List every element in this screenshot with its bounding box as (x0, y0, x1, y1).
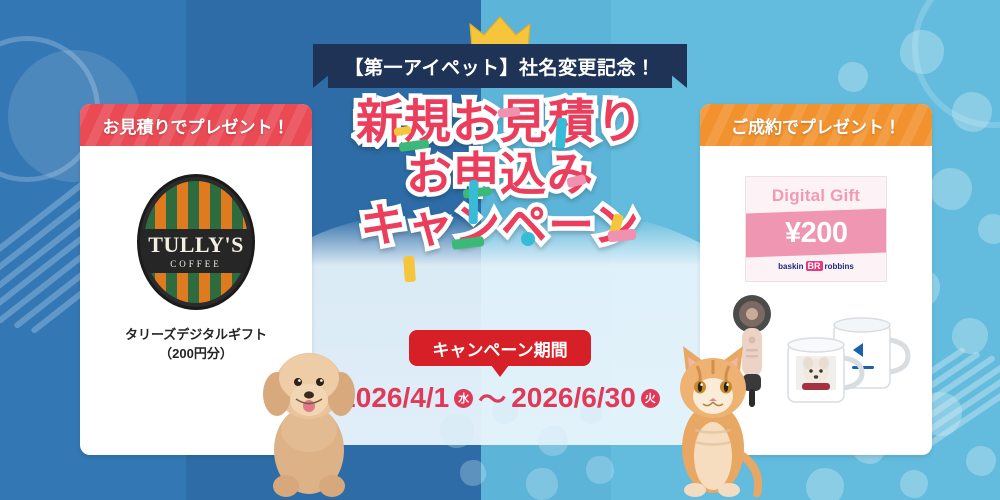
brand-prefix: baskin (778, 262, 803, 271)
tullys-logo-subtext: COFFEE (170, 260, 222, 269)
card-estimate-caption-main: タリーズデジタルギフト (125, 327, 267, 342)
digital-gift-title: Digital Gift (772, 187, 860, 204)
tullys-coffee-logo: TULLY'S COFFEE (137, 174, 255, 310)
toy-poodle-photo (250, 338, 368, 500)
title-line-3: キャンペーン (300, 200, 700, 252)
main-title: 新規お見積り お申込み キャンペーン (300, 96, 700, 252)
brand-suffix: robbins (825, 262, 854, 271)
card-contract-header: ご成約でプレゼント！ (700, 104, 932, 146)
campaign-end-date: 2026/6/30 (511, 382, 636, 414)
orange-tabby-cat-photo (663, 330, 769, 500)
tullys-logo-wordmark: TULLY'S (148, 234, 244, 256)
digital-gift-card: Digital Gift ¥200 baskin BR robbins (745, 176, 887, 282)
card-estimate-body: TULLY'S COFFEE タリーズデジタルギフト （200円分） (80, 146, 312, 364)
campaign-date-separator: ～ (478, 378, 506, 418)
campaign-period-badge-label: キャンペーン期間 (432, 336, 567, 361)
title-line-2: お申込み (300, 149, 700, 201)
brand-mark: BR (806, 261, 823, 271)
baskin-robbins-logo: baskin BR robbins (778, 261, 854, 271)
title-line-1: 新規お見積り (300, 96, 700, 149)
mug-with-logo-icon (834, 318, 908, 388)
campaign-banner: 【第一アイペット】社名変更記念！ 新規お見積り お申込み キャンペーン お見積り… (0, 0, 1000, 500)
ribbon-text: 【第一アイペット】社名変更記念！ (344, 53, 655, 80)
tullys-logo-band: TULLY'S COFFEE (140, 229, 252, 273)
tullys-logo-oval: TULLY'S COFFEE (137, 174, 255, 310)
campaign-period-badge: キャンペーン期間 (409, 330, 591, 366)
campaign-start-dow: 水 (454, 389, 473, 408)
card-estimate-header-label: お見積りでプレゼント！ (103, 113, 290, 138)
digital-gift-amount-band: ¥200 (746, 209, 886, 258)
campaign-end-dow: 火 (641, 389, 660, 408)
card-contract-header-label: ご成約でプレゼント！ (731, 113, 901, 138)
digital-gift-amount: ¥200 (785, 219, 848, 248)
card-estimate-header: お見積りでプレゼント！ (80, 104, 312, 146)
anniversary-ribbon: 【第一アイペット】社名変更記念！ (313, 44, 687, 88)
